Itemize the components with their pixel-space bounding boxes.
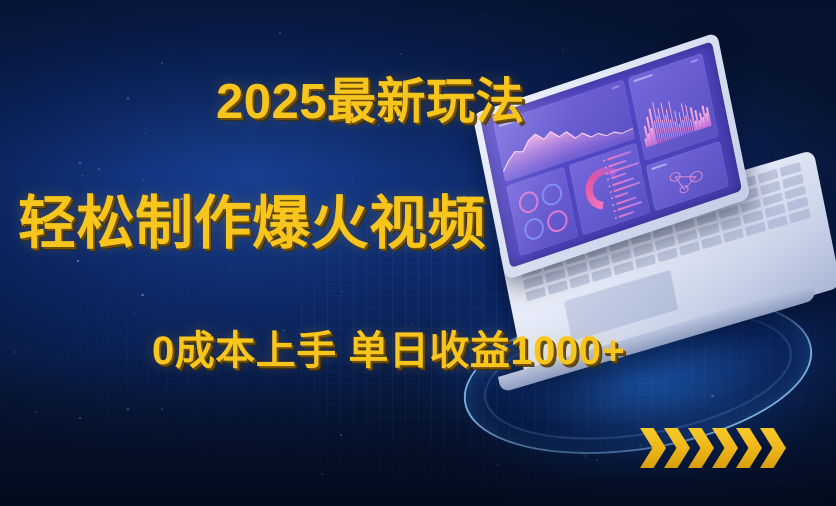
bar-list-bar xyxy=(609,162,639,174)
waveform-bars xyxy=(638,83,712,148)
misc-panel xyxy=(645,141,728,212)
waveform-bar xyxy=(674,121,679,137)
bar-list-bar xyxy=(616,196,637,205)
light-particle xyxy=(13,351,15,353)
donut-chart-panel xyxy=(569,143,650,236)
keyboard-key xyxy=(635,254,656,268)
waveform-bar xyxy=(652,102,662,144)
keyboard-key xyxy=(745,222,766,236)
waveform-bar xyxy=(656,115,663,142)
waveform-bar xyxy=(648,133,652,147)
waveform-bar xyxy=(699,121,702,130)
promo-banner: 2025最新玩法 轻松制作爆火视频 0成本上手 单日收益1000+ xyxy=(0,0,836,506)
bar-list-bar xyxy=(612,177,635,186)
waveform-bar xyxy=(690,119,694,133)
bar-list-bar xyxy=(610,173,626,180)
light-particle xyxy=(134,313,135,314)
waveform-bar xyxy=(665,109,673,140)
bar-list-dot xyxy=(607,178,609,181)
bar-list-dot xyxy=(603,159,605,162)
waveform-bar xyxy=(681,103,689,135)
bar-list-bar xyxy=(608,159,626,167)
bar-list-dot xyxy=(611,197,613,200)
bar-list-panel xyxy=(601,143,650,225)
circle-metric-1 xyxy=(517,188,541,216)
waveform-bar xyxy=(674,110,681,137)
keyboard-key xyxy=(613,261,634,275)
circle-metric-4 xyxy=(545,207,569,235)
bar-list-bar xyxy=(607,151,632,161)
panel-corner-mark xyxy=(690,58,698,63)
chevron-right-icon xyxy=(664,428,690,468)
waveform-bar xyxy=(685,105,692,133)
chevron-right-icon xyxy=(712,428,738,468)
network-graphic xyxy=(655,153,721,205)
bar-list-dot xyxy=(610,191,612,194)
chevron-right-icon xyxy=(688,428,714,468)
keyboard-key xyxy=(525,287,546,301)
keyboard-key xyxy=(789,209,810,223)
bar-list xyxy=(601,143,650,225)
keyboard-key xyxy=(767,215,788,229)
waveform-bar xyxy=(690,107,696,132)
headline-line-1: 2025最新玩法 xyxy=(216,62,525,133)
keyboard-key xyxy=(569,274,590,288)
panel-corner-mark xyxy=(611,85,619,90)
waveform-bar xyxy=(699,112,704,129)
waveform-bar xyxy=(702,106,708,128)
bar-list-bar xyxy=(614,192,628,198)
keyboard-key xyxy=(657,248,678,262)
bar-list-dot xyxy=(606,172,608,175)
forward-chevrons xyxy=(640,428,784,468)
keyboard-key xyxy=(591,267,612,281)
waveform-bar xyxy=(653,120,659,144)
waveform-bar xyxy=(702,117,706,129)
headline-line-3: 0成本上手 单日收益1000+ xyxy=(152,318,625,376)
bar-list-bar xyxy=(618,210,634,217)
waveform-bar xyxy=(644,126,650,147)
waveform-bar xyxy=(649,109,658,145)
chevron-right-icon xyxy=(760,428,786,468)
waveform-bar xyxy=(705,113,709,127)
waveform-bar xyxy=(645,138,648,148)
panel-title-bar xyxy=(633,74,652,82)
waveform-bar xyxy=(678,113,684,136)
waveform-bar xyxy=(706,107,711,127)
panel-title-bar xyxy=(651,163,667,170)
waveform-bar xyxy=(657,108,665,142)
light-particle xyxy=(229,266,231,268)
headline-line-2: 轻松制作爆火视频 xyxy=(18,176,486,260)
keyboard-key xyxy=(547,281,568,295)
bar-list-dot xyxy=(615,216,617,219)
waveform-panel xyxy=(628,53,719,161)
donut-chart xyxy=(582,162,629,216)
bar-list-dot xyxy=(608,185,610,188)
circle-metric-3 xyxy=(522,215,546,243)
keyboard-key xyxy=(723,228,744,242)
chevron-right-icon xyxy=(640,428,666,468)
bar-list-dot xyxy=(612,204,614,207)
waveform-bar xyxy=(664,114,671,140)
waveform-bar xyxy=(694,110,700,130)
waveform-bar xyxy=(651,127,656,145)
waveform-bar xyxy=(685,115,690,134)
waveform-bar xyxy=(668,101,677,138)
waveform-bar xyxy=(682,120,687,135)
keyboard-key xyxy=(701,235,722,249)
light-particle xyxy=(141,294,143,296)
bar-list-dot xyxy=(604,166,606,169)
bar-list-bar xyxy=(613,181,640,192)
bar-list-dot xyxy=(613,210,615,213)
chevron-right-icon xyxy=(736,428,762,468)
light-particle xyxy=(341,291,342,292)
waveform-bar xyxy=(679,124,683,137)
waveform-bar xyxy=(694,120,698,131)
waveform-bar xyxy=(647,117,654,146)
circles-panel xyxy=(506,167,578,256)
waveform-bar xyxy=(670,119,675,139)
waveform-bar xyxy=(660,102,669,141)
bar-list-bar xyxy=(617,201,642,211)
waveform-bar xyxy=(662,120,668,141)
keyboard-key xyxy=(679,241,700,255)
circle-metric-2 xyxy=(540,181,564,209)
